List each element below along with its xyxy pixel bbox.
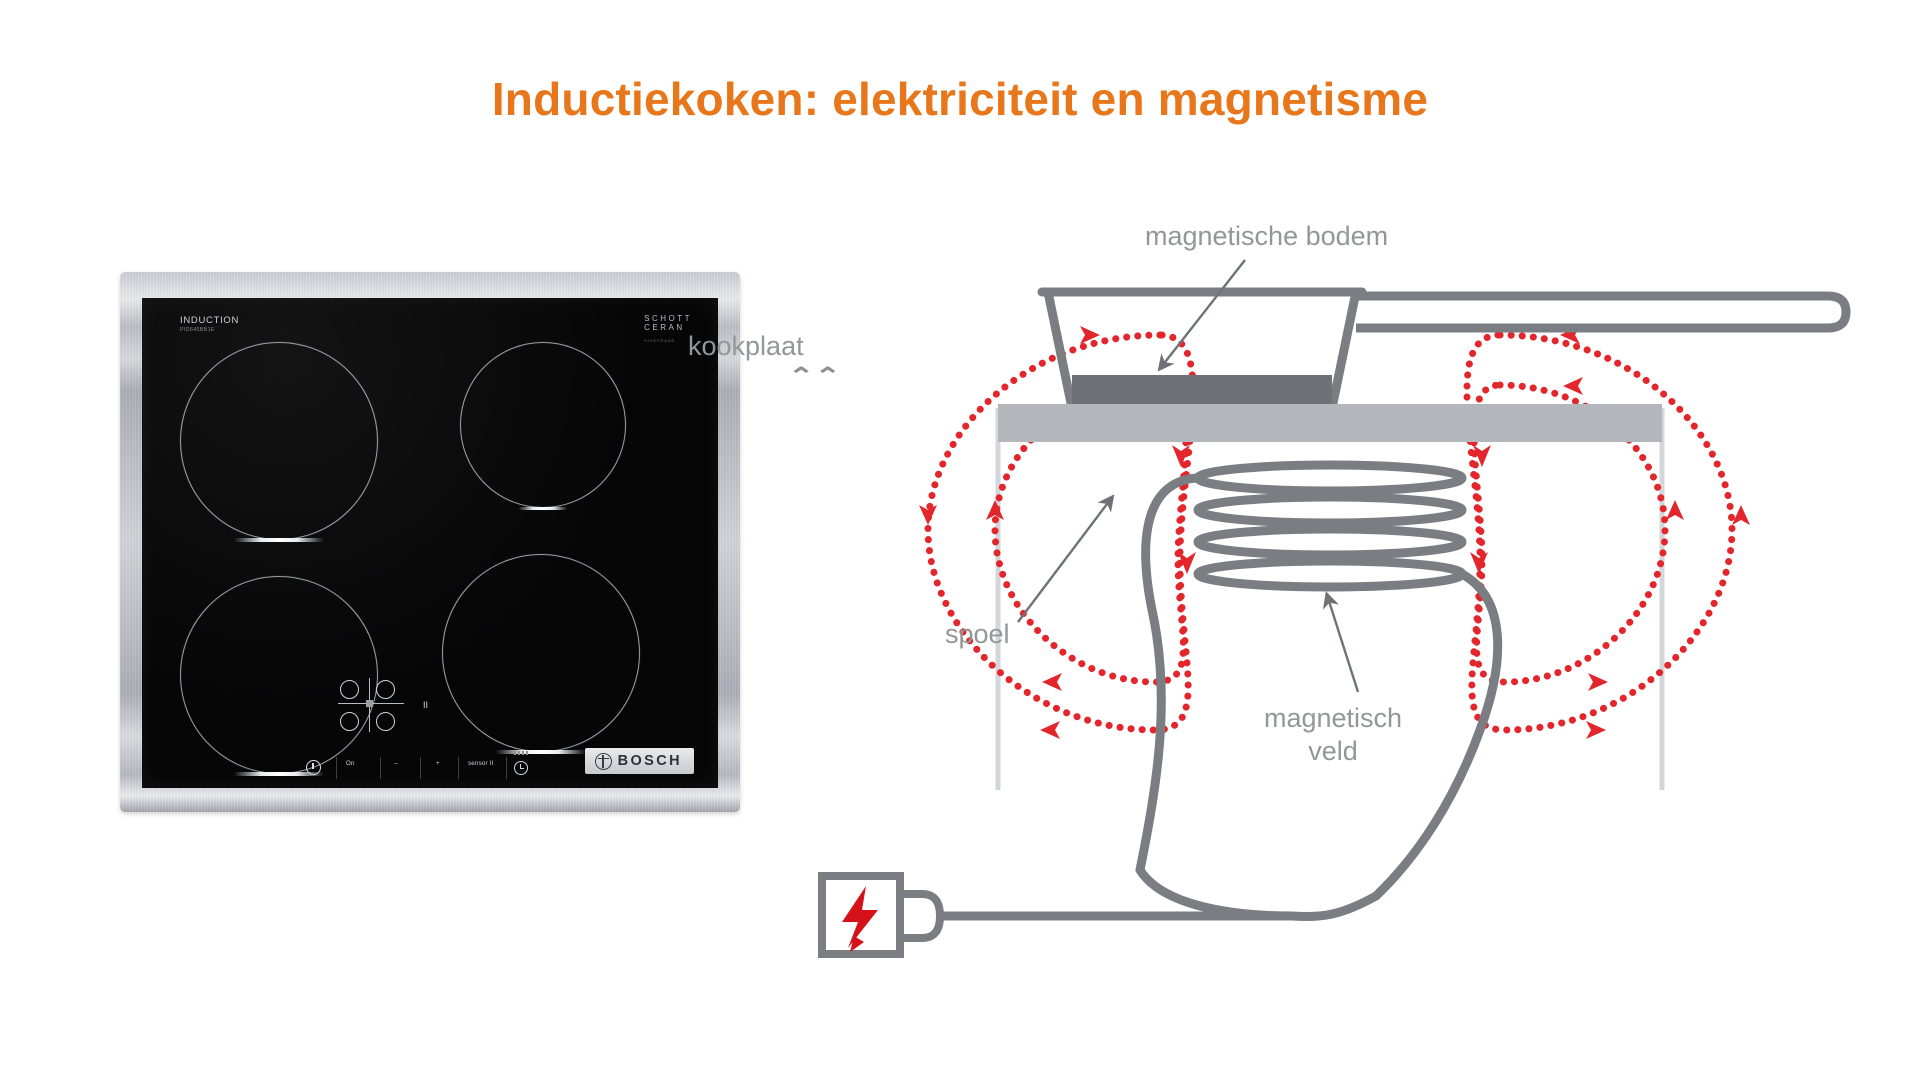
leader-coil: [1018, 500, 1110, 622]
divider: [506, 757, 507, 779]
cooking-zone-front-right[interactable]: [442, 554, 640, 752]
zone-select-rear-right-icon[interactable]: [376, 680, 395, 699]
label-magnetic-field: magnetisch veld: [1253, 702, 1413, 768]
induction-principle-diagram: magnetische bodem kookplaat ⌃⌃ spoel mag…: [780, 230, 1890, 970]
zone-marker: [496, 750, 586, 754]
bosch-logo: BOSCH: [585, 748, 694, 774]
bosch-wordmark: BOSCH: [618, 753, 682, 769]
level-bar-indicator: [514, 751, 528, 755]
divider: [336, 757, 337, 779]
timer-clock-icon[interactable]: [514, 761, 528, 775]
schott-ceran-label: SCHOTT CERAN HIGHTRANS: [644, 314, 692, 345]
cooking-zone-rear-left[interactable]: [180, 342, 378, 540]
cooktop-model-code: PID645BB1E: [180, 327, 239, 333]
cooking-zone-front-left[interactable]: [180, 576, 378, 774]
zone-marker: [234, 772, 324, 776]
cooking-pan: [1042, 292, 1846, 410]
key-on-label[interactable]: On: [346, 760, 355, 767]
zone-select-front-right-icon[interactable]: [376, 712, 395, 731]
cooktop-induction-label: INDUCTION PID645BB1E: [180, 315, 239, 333]
leader-magnetic-field: [1328, 598, 1358, 692]
zone-selector-quad: [338, 678, 404, 732]
label-cooktop: kookplaat: [688, 330, 804, 363]
label-coil: spoel: [945, 618, 1010, 651]
cooking-zone-rear-right[interactable]: [460, 342, 626, 508]
induction-cooktop-photo: INDUCTION PID645BB1E SCHOTT CERAN HIGHTR…: [120, 272, 740, 812]
power-plug-icon: [822, 876, 980, 954]
cooktop-glass-slab: [998, 404, 1662, 442]
center-dot: [366, 700, 373, 707]
chevron-up-icon: ⌃⌃: [788, 363, 841, 389]
slide-canvas: Inductiekoken: elektriciteit en magnetis…: [0, 0, 1920, 1080]
leader-magnetic-bottom: [1162, 260, 1245, 366]
cooktop-zone-selector[interactable]: II: [338, 678, 458, 748]
induction-coil: [1198, 465, 1462, 587]
divider: [338, 703, 404, 704]
diagram-svg: [780, 230, 1890, 970]
zone-select-rear-left-icon[interactable]: [340, 680, 359, 699]
label-magnetic-bottom: magnetische bodem: [1145, 220, 1388, 253]
bosch-anchor-icon: [595, 753, 612, 770]
power-level-indicator: II: [423, 700, 428, 710]
zone-marker: [234, 538, 324, 542]
zone-select-front-left-icon[interactable]: [340, 712, 359, 731]
key-plus-label[interactable]: +: [436, 760, 440, 767]
power-on-off-icon[interactable]: [306, 760, 321, 775]
divider: [420, 757, 421, 779]
key-minus-label[interactable]: –: [394, 760, 398, 767]
key-sensor-label[interactable]: sensor II: [468, 760, 494, 767]
zone-marker: [518, 507, 567, 510]
cooktop-glass-surface: INDUCTION PID645BB1E SCHOTT CERAN HIGHTR…: [142, 298, 718, 788]
divider: [380, 757, 381, 779]
page-title: Inductiekoken: elektriciteit en magnetis…: [0, 72, 1920, 126]
divider: [369, 678, 370, 732]
divider: [458, 757, 459, 779]
power-cord: [976, 478, 1498, 917]
cooktop-touch-controls[interactable]: On – + sensor II: [302, 757, 536, 779]
